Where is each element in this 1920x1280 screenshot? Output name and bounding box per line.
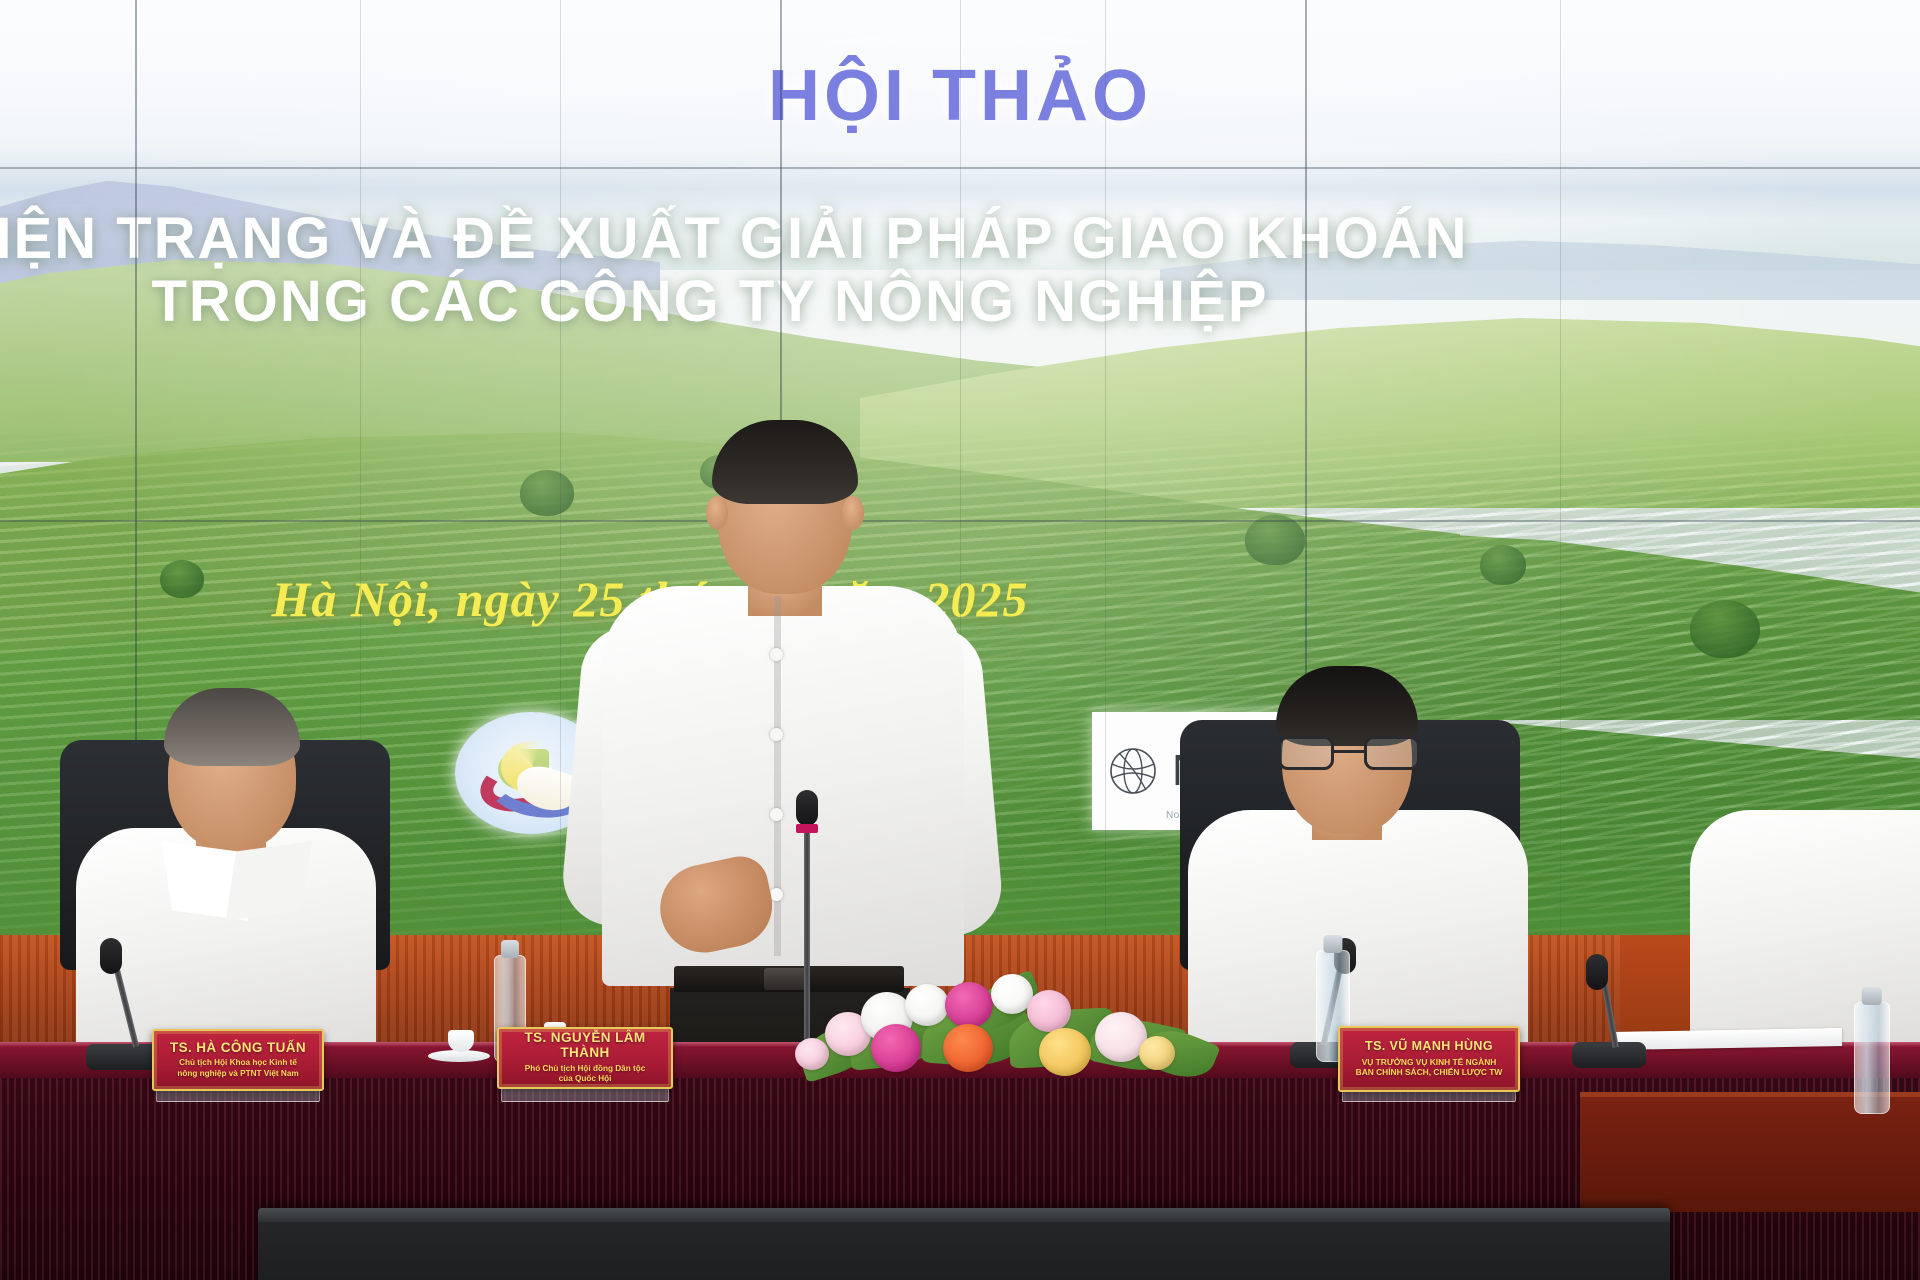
- slide-tree: [520, 470, 574, 516]
- nameplate-name: TS. VŨ MẠNH HÙNG: [1365, 1040, 1493, 1054]
- nameplate-name: TS. HÀ CÔNG TUẤN: [170, 1041, 306, 1056]
- slide-heading: HIỆN TRẠNG VÀ ĐỀ XUẤT GIẢI PHÁP GIAO KHO…: [0, 208, 1490, 333]
- bouquet-flower-magenta: [871, 1024, 921, 1072]
- videowall-seam-fine: [560, 0, 561, 935]
- drinking-glass: [448, 1030, 474, 1052]
- bouquet-flower-yellow-rose: [1039, 1028, 1091, 1076]
- panelist-left-collar: [226, 841, 312, 921]
- foreground-monitor: [258, 1208, 1670, 1280]
- conference-photo-scene: HỘI THẢO HIỆN TRẠNG VÀ ĐỀ XUẤT GIẢI PHÁP…: [0, 0, 1920, 1280]
- slide-heading-line-1: HIỆN TRẠNG VÀ ĐỀ XUẤT GIẢI PHÁP GIAO KHO…: [0, 206, 1468, 271]
- water-bottle-far-right: [1854, 1002, 1890, 1114]
- bottle-cap: [501, 940, 519, 958]
- speaker-torso: [602, 586, 964, 986]
- nameplate-vu-manh-hung: TS. VŨ MẠNH HÙNG VỤ TRƯỞNG VỤ KINH TẾ NG…: [1338, 1026, 1520, 1092]
- bouquet-flower-small-yellow: [1139, 1036, 1175, 1070]
- speaker-hair: [712, 420, 858, 504]
- eyeglass-lens: [1278, 736, 1334, 770]
- microphone-head: [1586, 954, 1608, 990]
- eyeglasses-icon: [1278, 736, 1420, 770]
- shirt-button: [770, 728, 783, 741]
- bouquet-flower-small-pink: [795, 1038, 829, 1070]
- microphone-head: [796, 790, 818, 826]
- nameplate-role-line-1: Phó Chủ tịch Hội đồng Dân tộc: [525, 1064, 646, 1075]
- nameplate-role-line-2: BAN CHÍNH SÁCH, CHIẾN LƯỢC TW: [1356, 1067, 1503, 1078]
- bouquet-flower-pink: [1027, 990, 1071, 1032]
- gooseneck-microphone-far-right: [1572, 1010, 1652, 1066]
- microphone-base: [1572, 1042, 1646, 1068]
- bottle-cap: [1862, 987, 1882, 1005]
- flower-bouquet: [795, 962, 1215, 1092]
- eyeglass-bridge: [1334, 750, 1364, 753]
- bottle-cap: [1323, 935, 1342, 953]
- microphone-head: [100, 938, 122, 974]
- seated-panelist-left: [18, 676, 438, 1056]
- panelist-left-hair: [164, 688, 300, 766]
- nameplate-ha-cong-tuan: TS. HÀ CÔNG TUẤN Chủ tịch Hội Khoa học K…: [152, 1029, 324, 1091]
- bouquet-flower-magenta: [945, 982, 993, 1028]
- shirt-button: [770, 808, 783, 821]
- nameplate-role-line-1: Chủ tịch Hội Khoa học Kinh tế: [179, 1058, 297, 1069]
- nameplate-role-line-1: VỤ TRƯỞNG VỤ KINH TẾ NGÀNH: [1362, 1057, 1497, 1068]
- slide-heading-line-2: TRONG CÁC CÔNG TY NÔNG NGHIỆP: [0, 271, 1490, 334]
- nameplate-role-line-2: của Quốc Hội: [559, 1074, 612, 1085]
- nameplate-role-line-2: nông nghiệp và PTNT Việt Nam: [177, 1069, 298, 1080]
- videowall-seam-fine: [1105, 0, 1106, 935]
- partial-person-far-right: [1690, 690, 1920, 1050]
- eyeglass-lens: [1364, 736, 1420, 770]
- slide-tree: [1245, 515, 1305, 565]
- nameplate-nguyen-lam-thanh: TS. NGUYỄN LÂM THÀNH Phó Chủ tịch Hội đồ…: [497, 1027, 673, 1089]
- nicfi-globe-icon: [1106, 744, 1160, 798]
- bouquet-flower-orange-rose: [943, 1024, 993, 1072]
- speaker-ear: [706, 496, 728, 530]
- speaker-ear: [842, 496, 864, 530]
- slide-tree: [1480, 545, 1526, 585]
- microphone-base: [86, 1044, 160, 1070]
- shirt-button: [770, 648, 783, 661]
- monitor-top-bezel: [258, 1208, 1670, 1222]
- shirt-button: [770, 888, 783, 901]
- nameplate-name: TS. NGUYỄN LÂM THÀNH: [507, 1031, 663, 1061]
- microphone-band: [796, 824, 818, 833]
- bouquet-flower-white-daisy: [905, 984, 949, 1026]
- seated-panelist-right: [1160, 660, 1620, 1060]
- panelist-right-hair: [1276, 666, 1418, 746]
- slide-tree: [1690, 600, 1760, 658]
